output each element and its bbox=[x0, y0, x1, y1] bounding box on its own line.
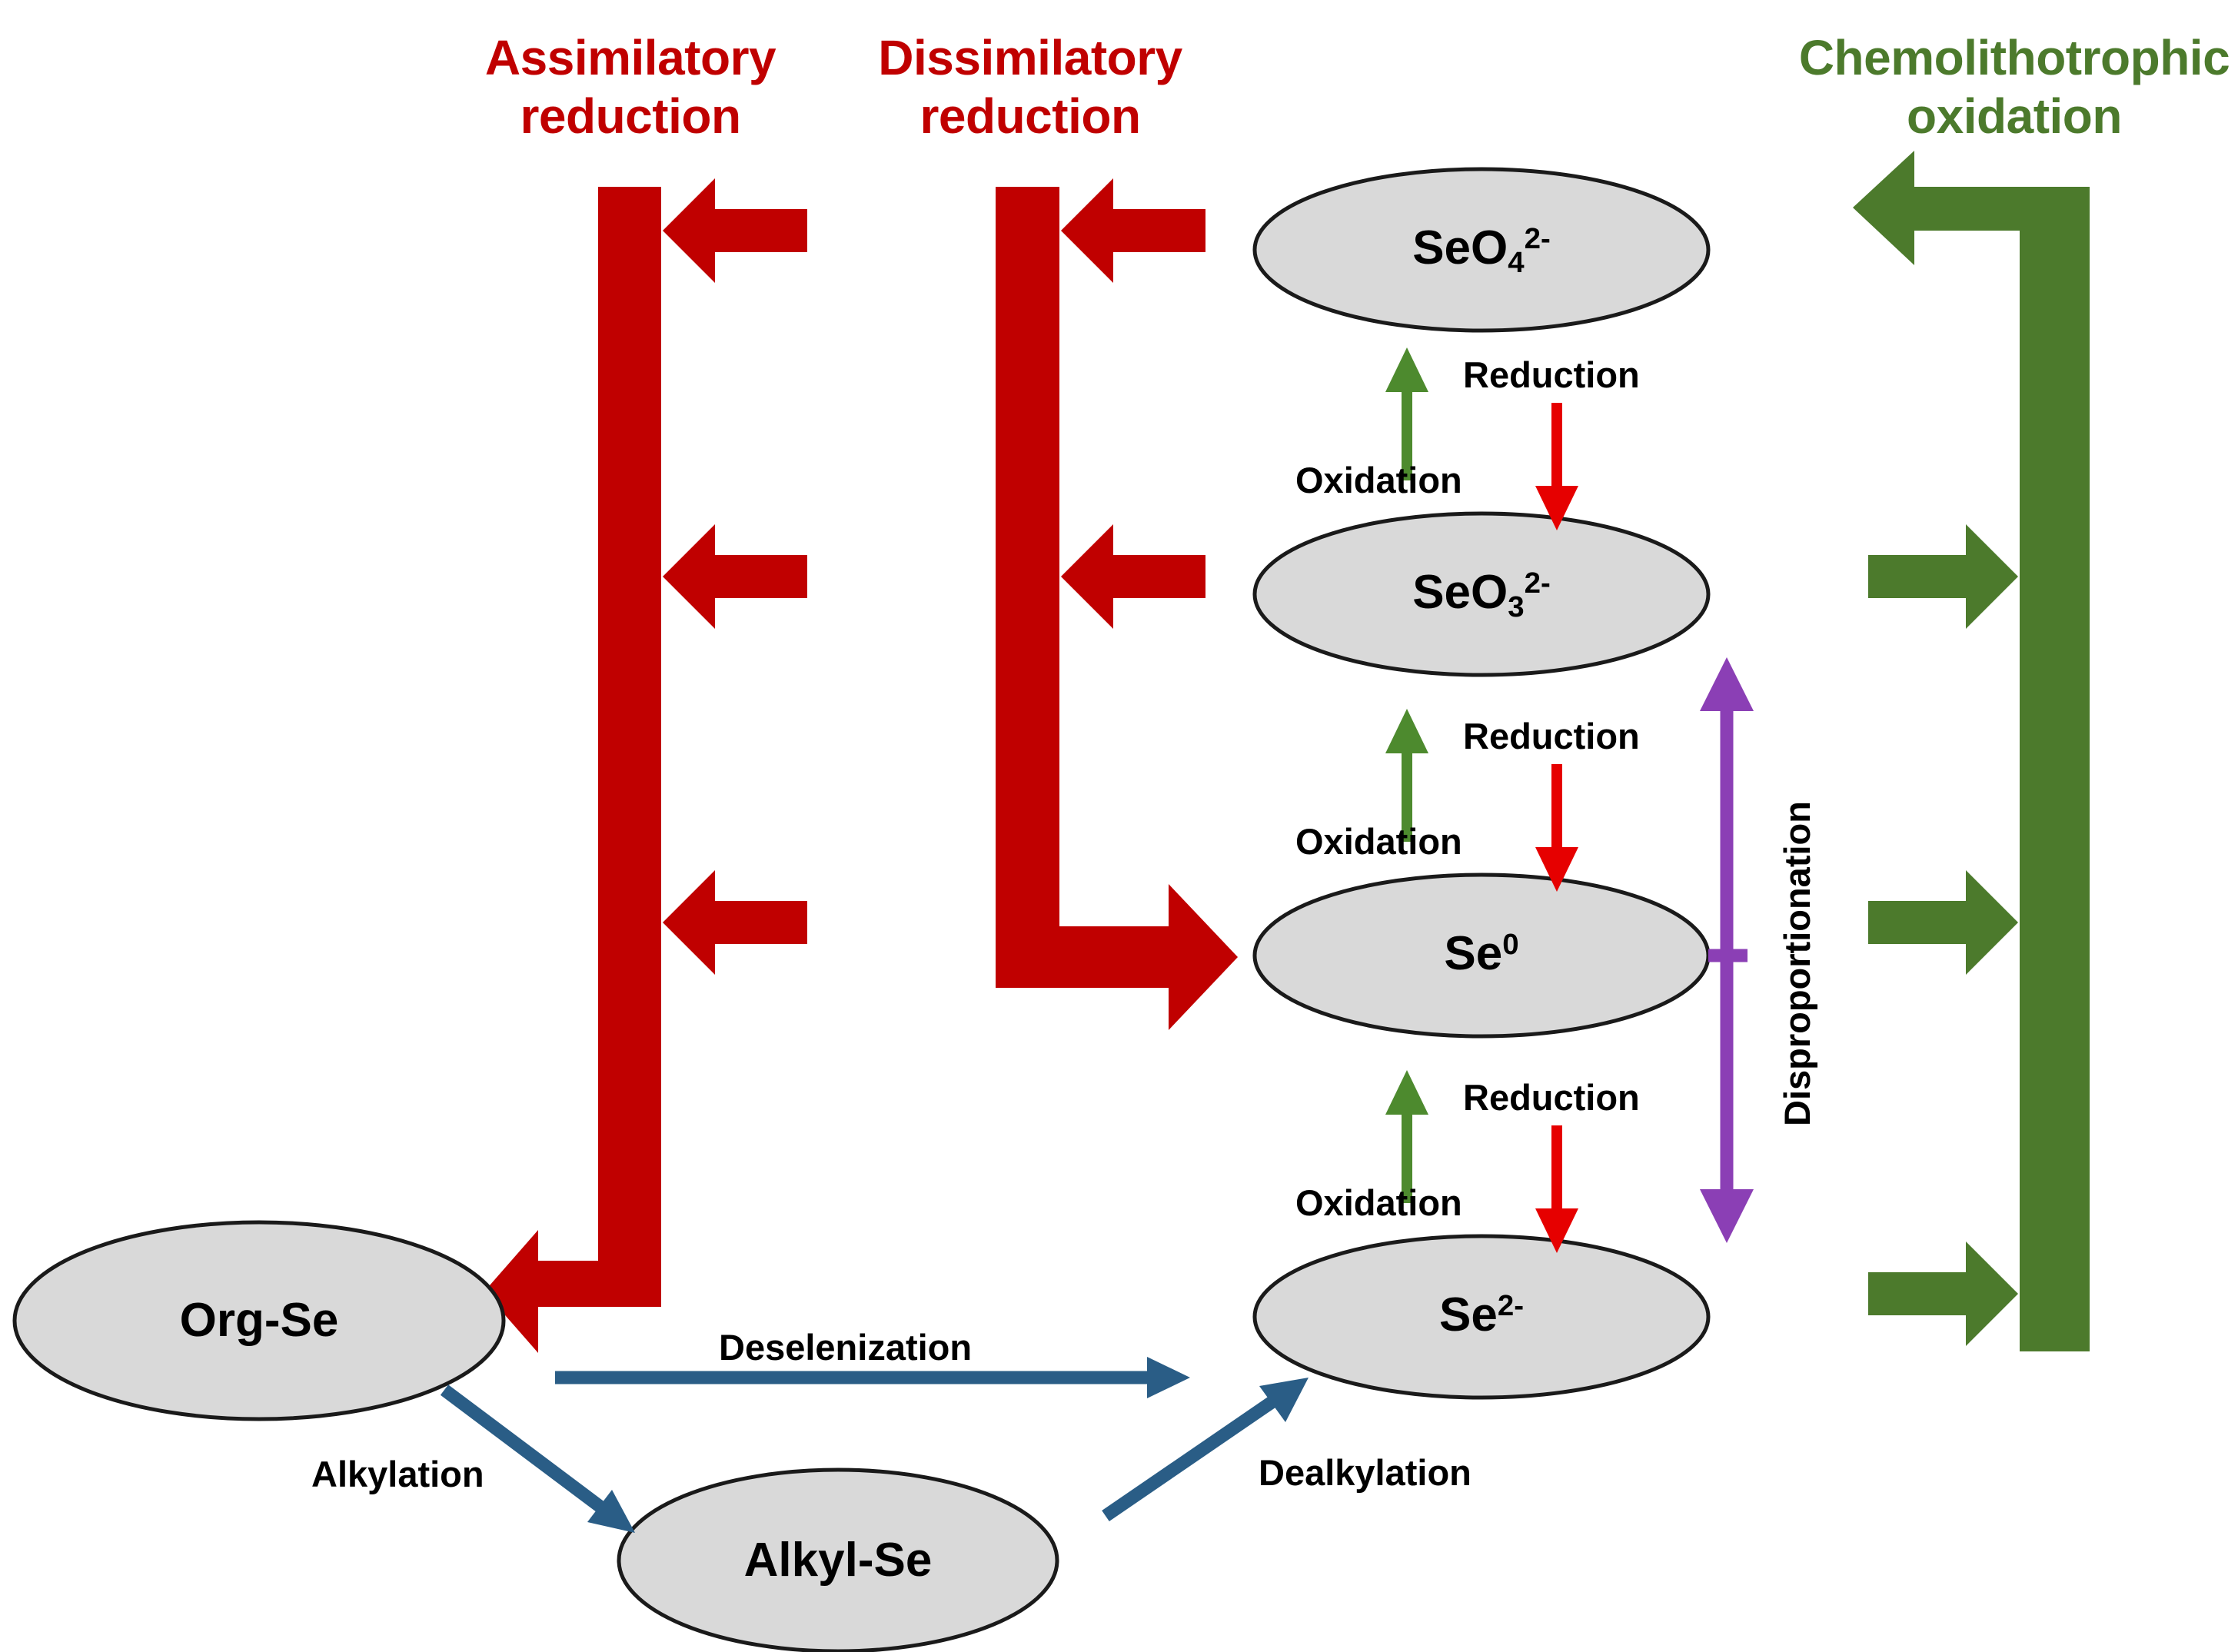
label-alkyl-se: Alkyl-Se bbox=[677, 1533, 999, 1587]
chemolithotrophic-oxidation-bulk-arrow bbox=[1853, 151, 2090, 1351]
reduction-arrow-3 bbox=[1535, 1125, 1578, 1253]
label-reduction-3: Reduction bbox=[1463, 1076, 1640, 1119]
label-reduction-1: Reduction bbox=[1463, 354, 1640, 396]
label-selenate-base: SeO bbox=[1412, 221, 1508, 274]
label-org-se: Org-Se bbox=[105, 1293, 413, 1348]
label-elemental-selenium: Se0 bbox=[1358, 926, 1605, 981]
label-selenate-sub: 4 bbox=[1508, 246, 1524, 279]
dissimilatory-reduction-bulk-arrow bbox=[996, 178, 1238, 1030]
label-elemental-sup: 0 bbox=[1502, 928, 1518, 961]
label-elemental-base: Se bbox=[1444, 927, 1502, 980]
diagram-canvas bbox=[0, 0, 2238, 1652]
label-disproportionation: Disproportionation bbox=[1776, 801, 1818, 1126]
header-dissimilatory-line2: reduction bbox=[838, 88, 1222, 146]
label-selenite-sub: 3 bbox=[1508, 590, 1524, 623]
label-selenate: SeO42- bbox=[1328, 221, 1635, 280]
header-assimilatory-line2: reduction bbox=[438, 88, 823, 146]
species-ellipses bbox=[15, 169, 1708, 1651]
label-deselenization: Deselenization bbox=[719, 1326, 972, 1368]
label-selenite: SeO32- bbox=[1328, 565, 1635, 624]
label-selenide-sup: 2- bbox=[1498, 1289, 1524, 1322]
header-dissimilatory-reduction: Dissimilatory reduction bbox=[838, 29, 1222, 145]
selenium-biogeochemical-cycle-diagram: Assimilatory reduction Dissimilatory red… bbox=[0, 0, 2238, 1652]
header-chemolithotrophic-oxidation: Chemolithotrophic oxidation bbox=[1791, 29, 2237, 145]
dealkylation-arrow bbox=[1106, 1378, 1309, 1516]
header-assimilatory-reduction: Assimilatory reduction bbox=[438, 29, 823, 145]
label-oxidation-2: Oxidation bbox=[1295, 820, 1462, 863]
header-chemolithotrophic-line2: oxidation bbox=[1791, 88, 2237, 146]
label-selenide-base: Se bbox=[1439, 1288, 1498, 1341]
label-selenite-base: SeO bbox=[1412, 566, 1508, 619]
label-reduction-2: Reduction bbox=[1463, 715, 1640, 757]
header-dissimilatory-line1: Dissimilatory bbox=[838, 29, 1222, 88]
label-oxidation-1: Oxidation bbox=[1295, 459, 1462, 501]
header-assimilatory-line1: Assimilatory bbox=[438, 29, 823, 88]
label-selenate-sup: 2- bbox=[1525, 222, 1551, 255]
label-selenite-sup: 2- bbox=[1525, 567, 1551, 600]
reduction-arrow-2 bbox=[1535, 764, 1578, 892]
label-dealkylation: Dealkylation bbox=[1259, 1451, 1471, 1494]
label-selenide: Se2- bbox=[1358, 1288, 1605, 1342]
reduction-arrow-1 bbox=[1535, 403, 1578, 530]
header-chemolithotrophic-line1: Chemolithotrophic bbox=[1791, 29, 2237, 88]
label-oxidation-3: Oxidation bbox=[1295, 1182, 1462, 1224]
assimilatory-reduction-bulk-arrow bbox=[484, 178, 807, 1353]
label-alkylation: Alkylation bbox=[311, 1453, 484, 1495]
